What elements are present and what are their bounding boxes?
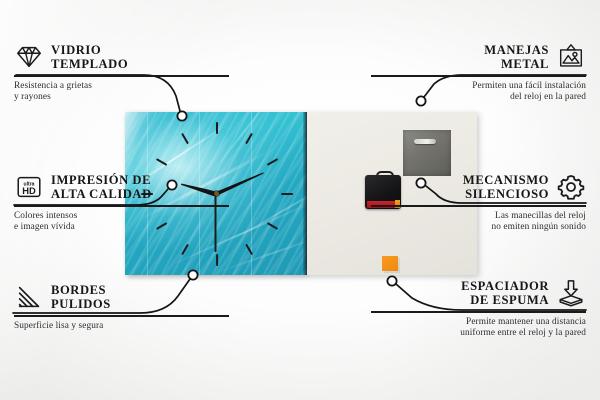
feature-subtitle: Superficie lisa y segura — [14, 321, 229, 332]
feature-divider — [14, 315, 229, 317]
feature-subtitle: Permite mantener una distancia uniforme … — [371, 317, 586, 340]
feature-divider — [371, 205, 586, 207]
feature-manejas-metal: MANEJAS METAL Permiten una fácil instala… — [371, 42, 586, 103]
hour-tick — [267, 222, 278, 230]
feature-subtitle: Permiten una fácil instalación del reloj… — [371, 81, 586, 104]
ultra-hd-icon-large-text: HD — [22, 186, 36, 196]
feature-subtitle: Las manecillas del reloj no emiten ningú… — [371, 211, 586, 234]
feature-espaciador-de-espuma: ESPACIADOR DE ESPUMA Permite mantener un… — [371, 278, 586, 339]
feature-divider — [371, 311, 586, 313]
hour-tick — [216, 122, 218, 134]
feature-title: MANEJAS METAL — [484, 43, 549, 72]
feature-divider — [371, 75, 586, 77]
foam-spacer-arrow-icon — [556, 278, 586, 308]
picture-frame-hanger-icon — [556, 42, 586, 72]
diamond-icon — [14, 42, 44, 72]
hour-tick — [181, 132, 189, 143]
metal-hanger-plate — [403, 130, 451, 176]
ultra-hd-icon: ultra HD — [14, 172, 44, 202]
feature-mecanismo-silencioso: MECANISMO SILENCIOSO Las manecillas del … — [371, 172, 586, 233]
feature-title: VIDRIO TEMPLADO — [51, 43, 128, 72]
feature-title: ESPACIADOR DE ESPUMA — [461, 279, 549, 308]
feature-divider — [14, 75, 229, 77]
feature-subtitle: Resistencia a grietas y rayones — [14, 81, 229, 104]
feature-vidrio-templado: VIDRIO TEMPLADO Resistencia a grietas y … — [14, 42, 229, 103]
feature-title: IMPRESIÓN DE ALTA CALIDAD — [51, 173, 152, 202]
feature-bordes-pulidos: BORDES PULIDOS Superficie lisa y segura — [14, 282, 229, 332]
foam-spacer-pad — [382, 256, 398, 271]
hour-tick — [281, 192, 293, 194]
feature-subtitle: Colores intensos e imagen vívida — [14, 211, 229, 234]
feature-impresion-alta-calidad: ultra HD IMPRESIÓN DE ALTA CALIDAD Color… — [14, 172, 229, 233]
hour-tick — [216, 254, 218, 266]
feature-divider — [14, 205, 229, 207]
hanger-slot — [414, 139, 436, 144]
hour-tick — [267, 158, 278, 166]
polished-edge-icon — [14, 282, 44, 312]
feature-title: BORDES PULIDOS — [51, 283, 111, 312]
feature-title: MECANISMO SILENCIOSO — [463, 173, 549, 202]
infographic-canvas: VIDRIO TEMPLADO Resistencia a grietas y … — [0, 0, 600, 400]
gear-icon — [556, 172, 586, 202]
hour-tick — [181, 243, 189, 254]
